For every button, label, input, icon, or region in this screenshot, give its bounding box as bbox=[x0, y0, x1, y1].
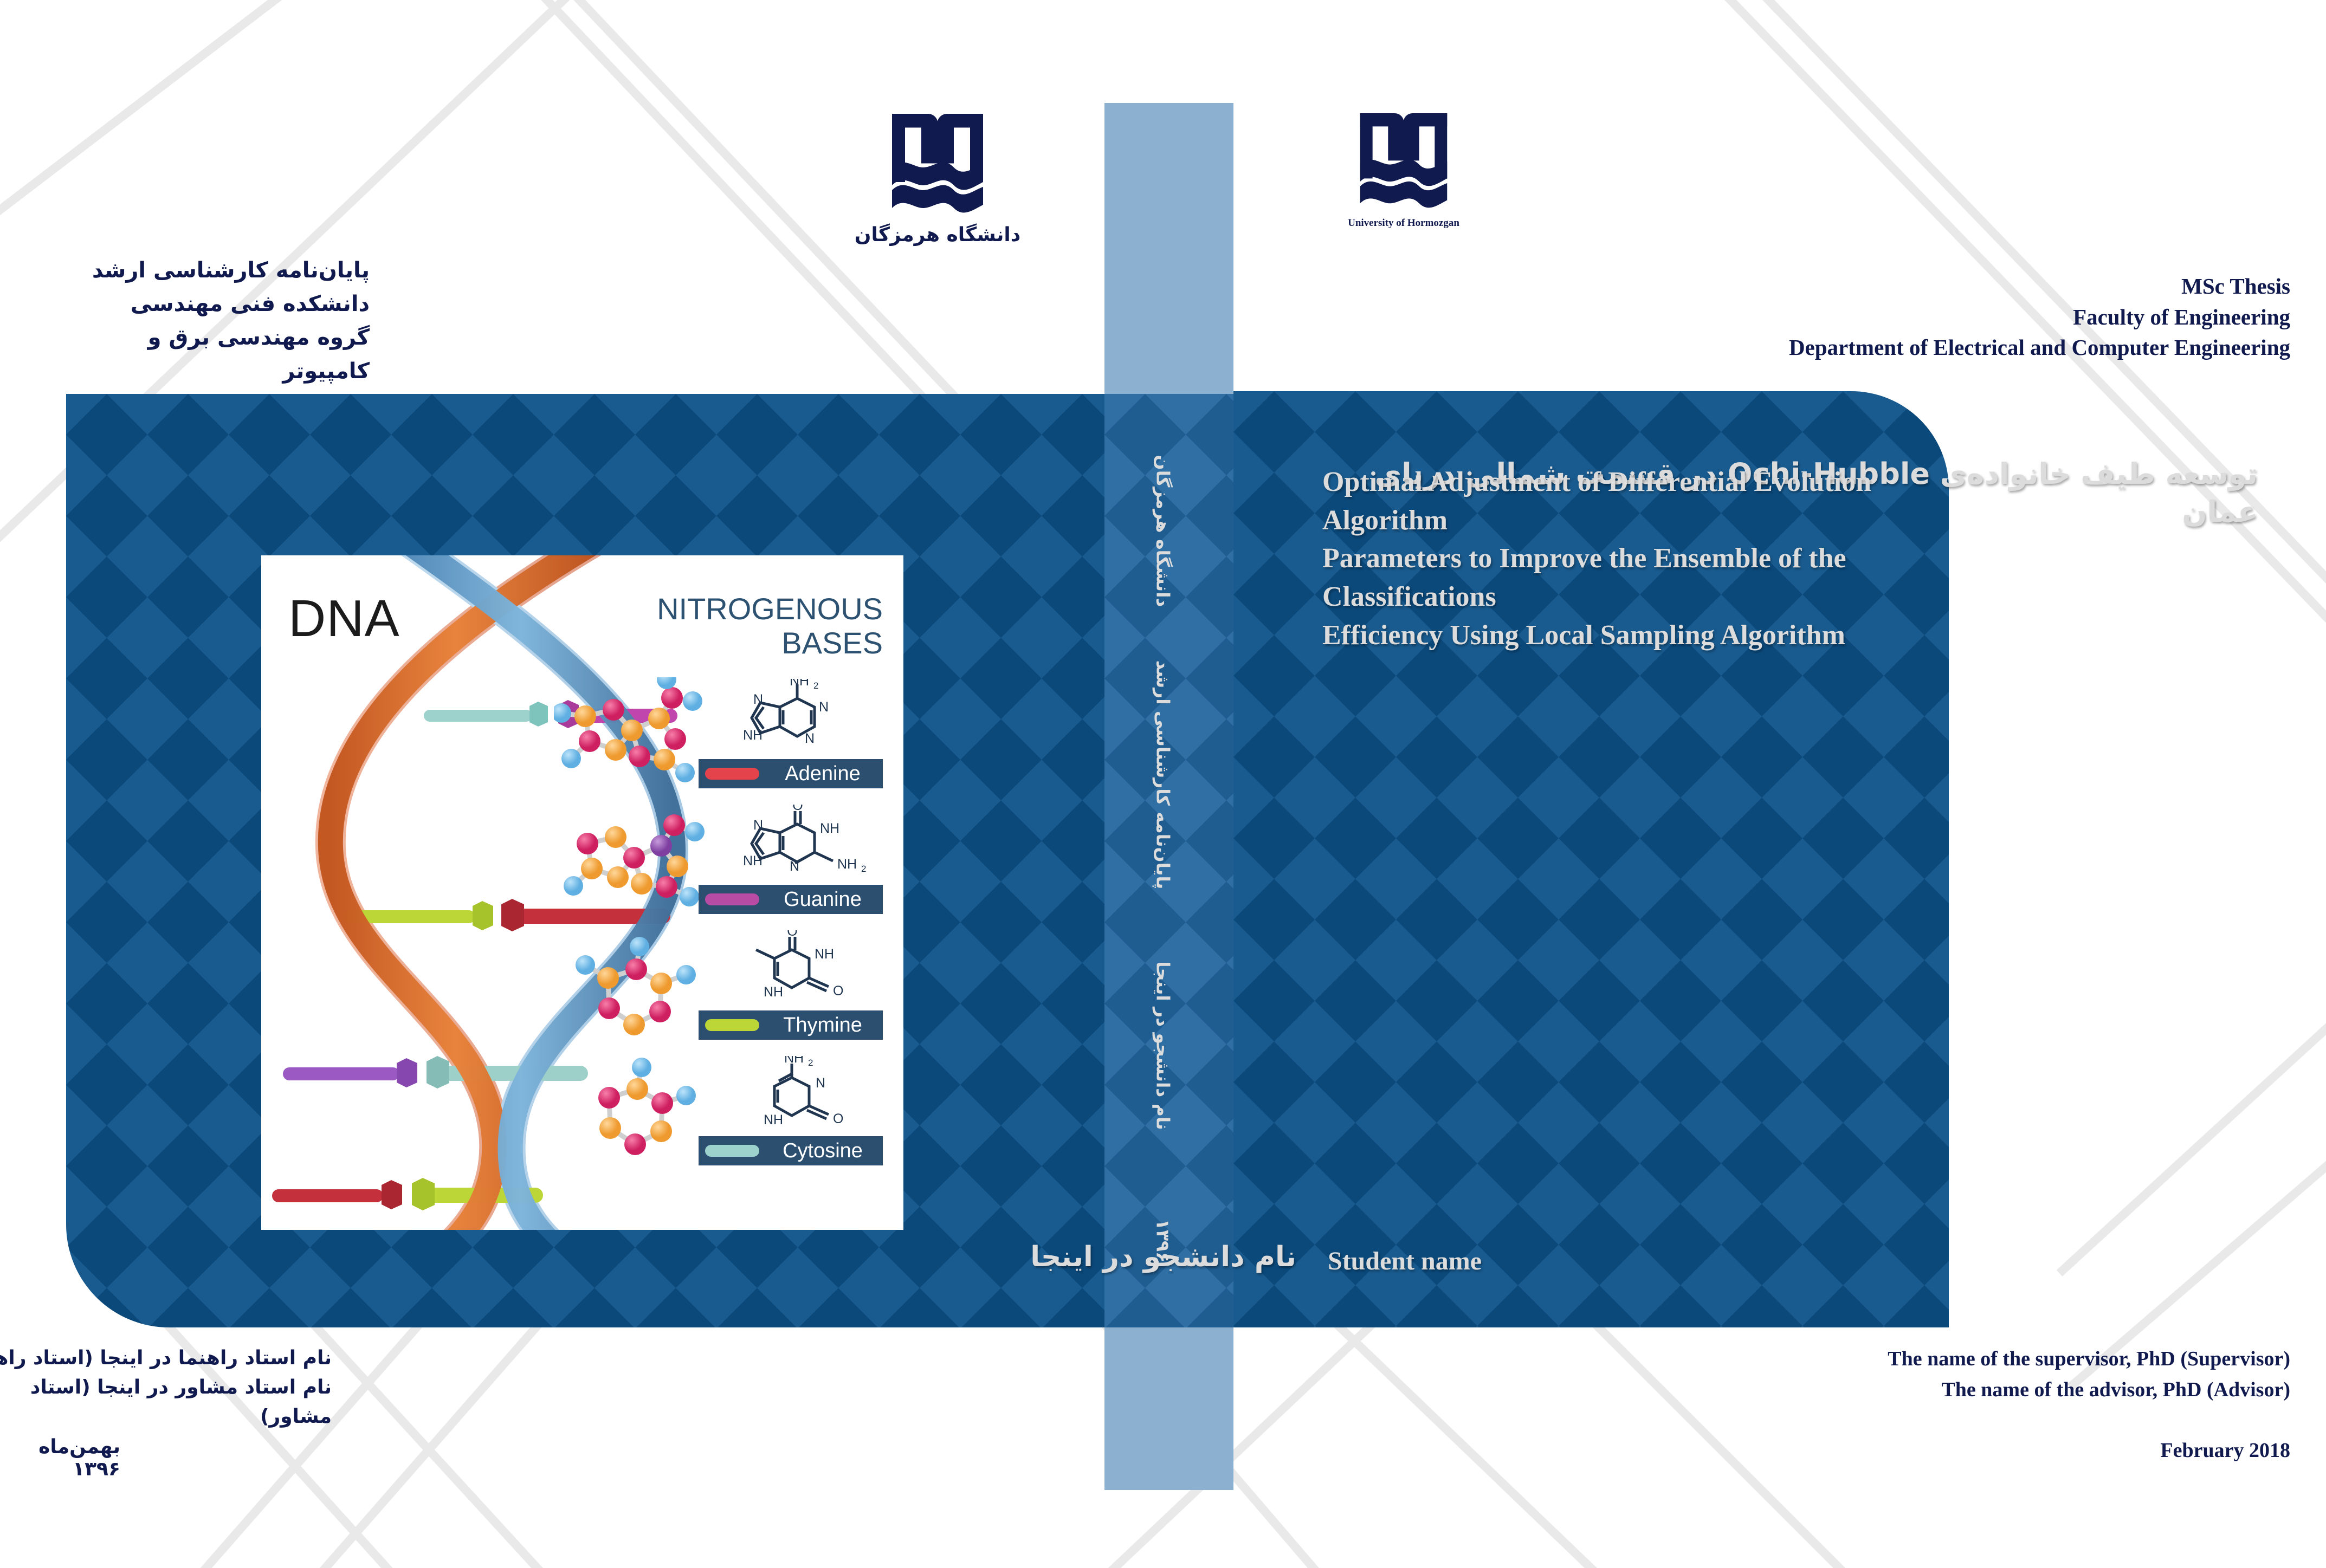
base-chip-cytosine: Cytosine bbox=[699, 1136, 883, 1165]
guanine-color-swatch bbox=[705, 893, 759, 905]
adenine-label: Adenine bbox=[769, 763, 876, 784]
supervisor-english: The name of the supervisor, PhD (Supervi… bbox=[1888, 1344, 2290, 1375]
logo-caption-english: University of Hormozgan bbox=[1322, 217, 1485, 229]
svg-text:N: N bbox=[753, 818, 763, 833]
title-en-line3: Efficiency Using Local Sampling Algorith… bbox=[1322, 617, 1924, 655]
base-chip-thymine: Thymine bbox=[699, 1010, 883, 1040]
spine-line-year: ۱۳۹۶ bbox=[1153, 1219, 1174, 1263]
svg-text:2: 2 bbox=[813, 681, 818, 691]
spine-line-degree: پایان‌نامه کارشناسی ارشد bbox=[1153, 660, 1174, 890]
svg-text:NH: NH bbox=[815, 947, 834, 962]
header-persian: پایان‌نامه کارشناسی ارشد دانشکده فنی مهن… bbox=[66, 254, 370, 388]
advisor-persian: نام استاد مشاور در اینجا (استاد مشاور) bbox=[0, 1373, 332, 1431]
hormozgan-book-logo-icon bbox=[889, 108, 986, 217]
adenine-color-swatch bbox=[705, 768, 759, 780]
svg-text:NH: NH bbox=[820, 821, 839, 836]
spine-line-university: دانشگاه هرمزگان bbox=[1153, 455, 1174, 607]
header-en-line1: MSc Thesis bbox=[1789, 271, 2290, 302]
front-cover-footer-english: The name of the supervisor, PhD (Supervi… bbox=[1888, 1344, 2290, 1405]
base-chip-adenine: Adenine bbox=[699, 759, 883, 788]
thymine-skeletal-formula-icon: O NH NH O bbox=[699, 930, 883, 1010]
header-fa-line1: پایان‌نامه کارشناسی ارشد bbox=[66, 254, 370, 287]
supervisor-persian: نام استاد راهنما در اینجا (استاد راهنما) bbox=[0, 1344, 332, 1373]
svg-text:NH: NH bbox=[784, 1056, 804, 1066]
base-entry-thymine: O NH NH O Thymine bbox=[699, 930, 883, 1040]
svg-text:NH: NH bbox=[837, 857, 857, 872]
svg-text:NH: NH bbox=[790, 679, 809, 689]
nitrogenous-bases-heading: NITROGENOUS BASES bbox=[657, 592, 883, 660]
bases-heading-line1: NITROGENOUS bbox=[657, 592, 883, 626]
svg-text:N: N bbox=[790, 859, 799, 874]
guanine-skeletal-formula-icon: O N NH N NH NH2 bbox=[699, 805, 883, 885]
thymine-structure: O NH NH O bbox=[699, 930, 883, 1010]
dna-title-label: DNA bbox=[288, 589, 400, 649]
guanine-label: Guanine bbox=[769, 889, 876, 910]
svg-text:NH: NH bbox=[743, 853, 763, 869]
cytosine-color-swatch bbox=[705, 1145, 759, 1157]
svg-text:O: O bbox=[833, 1111, 843, 1126]
front-cover-student-name: Student name bbox=[1328, 1246, 1482, 1276]
logo-caption-persian: دانشگاه هرمزگان bbox=[851, 224, 1024, 246]
base-chip-guanine: Guanine bbox=[699, 885, 883, 914]
cytosine-skeletal-formula-icon: NH2 N NH O bbox=[699, 1056, 883, 1136]
title-en-line2: Parameters to Improve the Ensemble of th… bbox=[1322, 540, 1924, 616]
advisor-english: The name of the advisor, PhD (Advisor) bbox=[1888, 1375, 2290, 1405]
svg-text:NH: NH bbox=[764, 984, 783, 1000]
svg-text:N: N bbox=[753, 692, 763, 707]
university-logo-english: University of Hormozgan bbox=[1322, 108, 1485, 229]
back-cover-date-persian: بهمن‌ماه ۱۳۹۶ bbox=[0, 1436, 120, 1480]
svg-text:NH: NH bbox=[743, 728, 763, 743]
cytosine-label: Cytosine bbox=[769, 1141, 876, 1161]
front-cover-date-english: February 2018 bbox=[2160, 1439, 2290, 1462]
base-entry-cytosine: NH2 N NH O Cytosine bbox=[699, 1056, 883, 1165]
header-fa-line2: دانشکده فنی مهندسی bbox=[66, 287, 370, 321]
title-en-line1: Optimal Adjustment of Differential Evolu… bbox=[1322, 463, 1924, 540]
header-en-line3: Department of Electrical and Computer En… bbox=[1789, 332, 2290, 363]
header-english: MSc Thesis Faculty of Engineering Depart… bbox=[1789, 271, 2290, 363]
hormozgan-book-logo-icon bbox=[1357, 108, 1450, 211]
svg-text:O: O bbox=[792, 805, 803, 813]
adenine-structure: NH2 N N N NH bbox=[699, 679, 883, 759]
svg-text:N: N bbox=[816, 1075, 825, 1091]
guanine-structure: O N NH N NH NH2 bbox=[699, 805, 883, 885]
back-cover-footer-persian: نام استاد راهنما در اینجا (استاد راهنما)… bbox=[0, 1344, 332, 1431]
front-cover-title-english: Optimal Adjustment of Differential Evolu… bbox=[1322, 463, 1924, 655]
svg-text:O: O bbox=[787, 930, 797, 939]
university-logo-persian: دانشگاه هرمزگان bbox=[851, 108, 1024, 246]
svg-text:N: N bbox=[819, 699, 829, 715]
dna-illustration: DNA NITROGENOUS BASES bbox=[261, 555, 903, 1230]
svg-text:2: 2 bbox=[808, 1058, 813, 1068]
svg-text:O: O bbox=[833, 983, 843, 999]
spine-line-student: نام دانشجو در اینجا bbox=[1153, 961, 1174, 1130]
adenine-skeletal-formula-icon: NH2 N N N NH bbox=[699, 679, 883, 759]
svg-text:N: N bbox=[805, 731, 815, 746]
thymine-color-swatch bbox=[705, 1019, 759, 1031]
base-entry-adenine: NH2 N N N NH Adenine bbox=[699, 679, 883, 788]
thymine-label: Thymine bbox=[769, 1015, 876, 1035]
svg-text:2: 2 bbox=[861, 864, 866, 874]
bases-heading-line2: BASES bbox=[657, 626, 883, 660]
spine-top-extension bbox=[1104, 103, 1233, 394]
spine-bottom-extension bbox=[1104, 1327, 1233, 1490]
base-entry-guanine: O N NH N NH NH2 Guanine bbox=[699, 805, 883, 914]
header-en-line2: Faculty of Engineering bbox=[1789, 302, 2290, 333]
header-fa-line3: گروه مهندسی برق و کامپیوتر bbox=[66, 321, 370, 388]
svg-text:NH: NH bbox=[764, 1112, 783, 1128]
cytosine-structure: NH2 N NH O bbox=[699, 1056, 883, 1136]
